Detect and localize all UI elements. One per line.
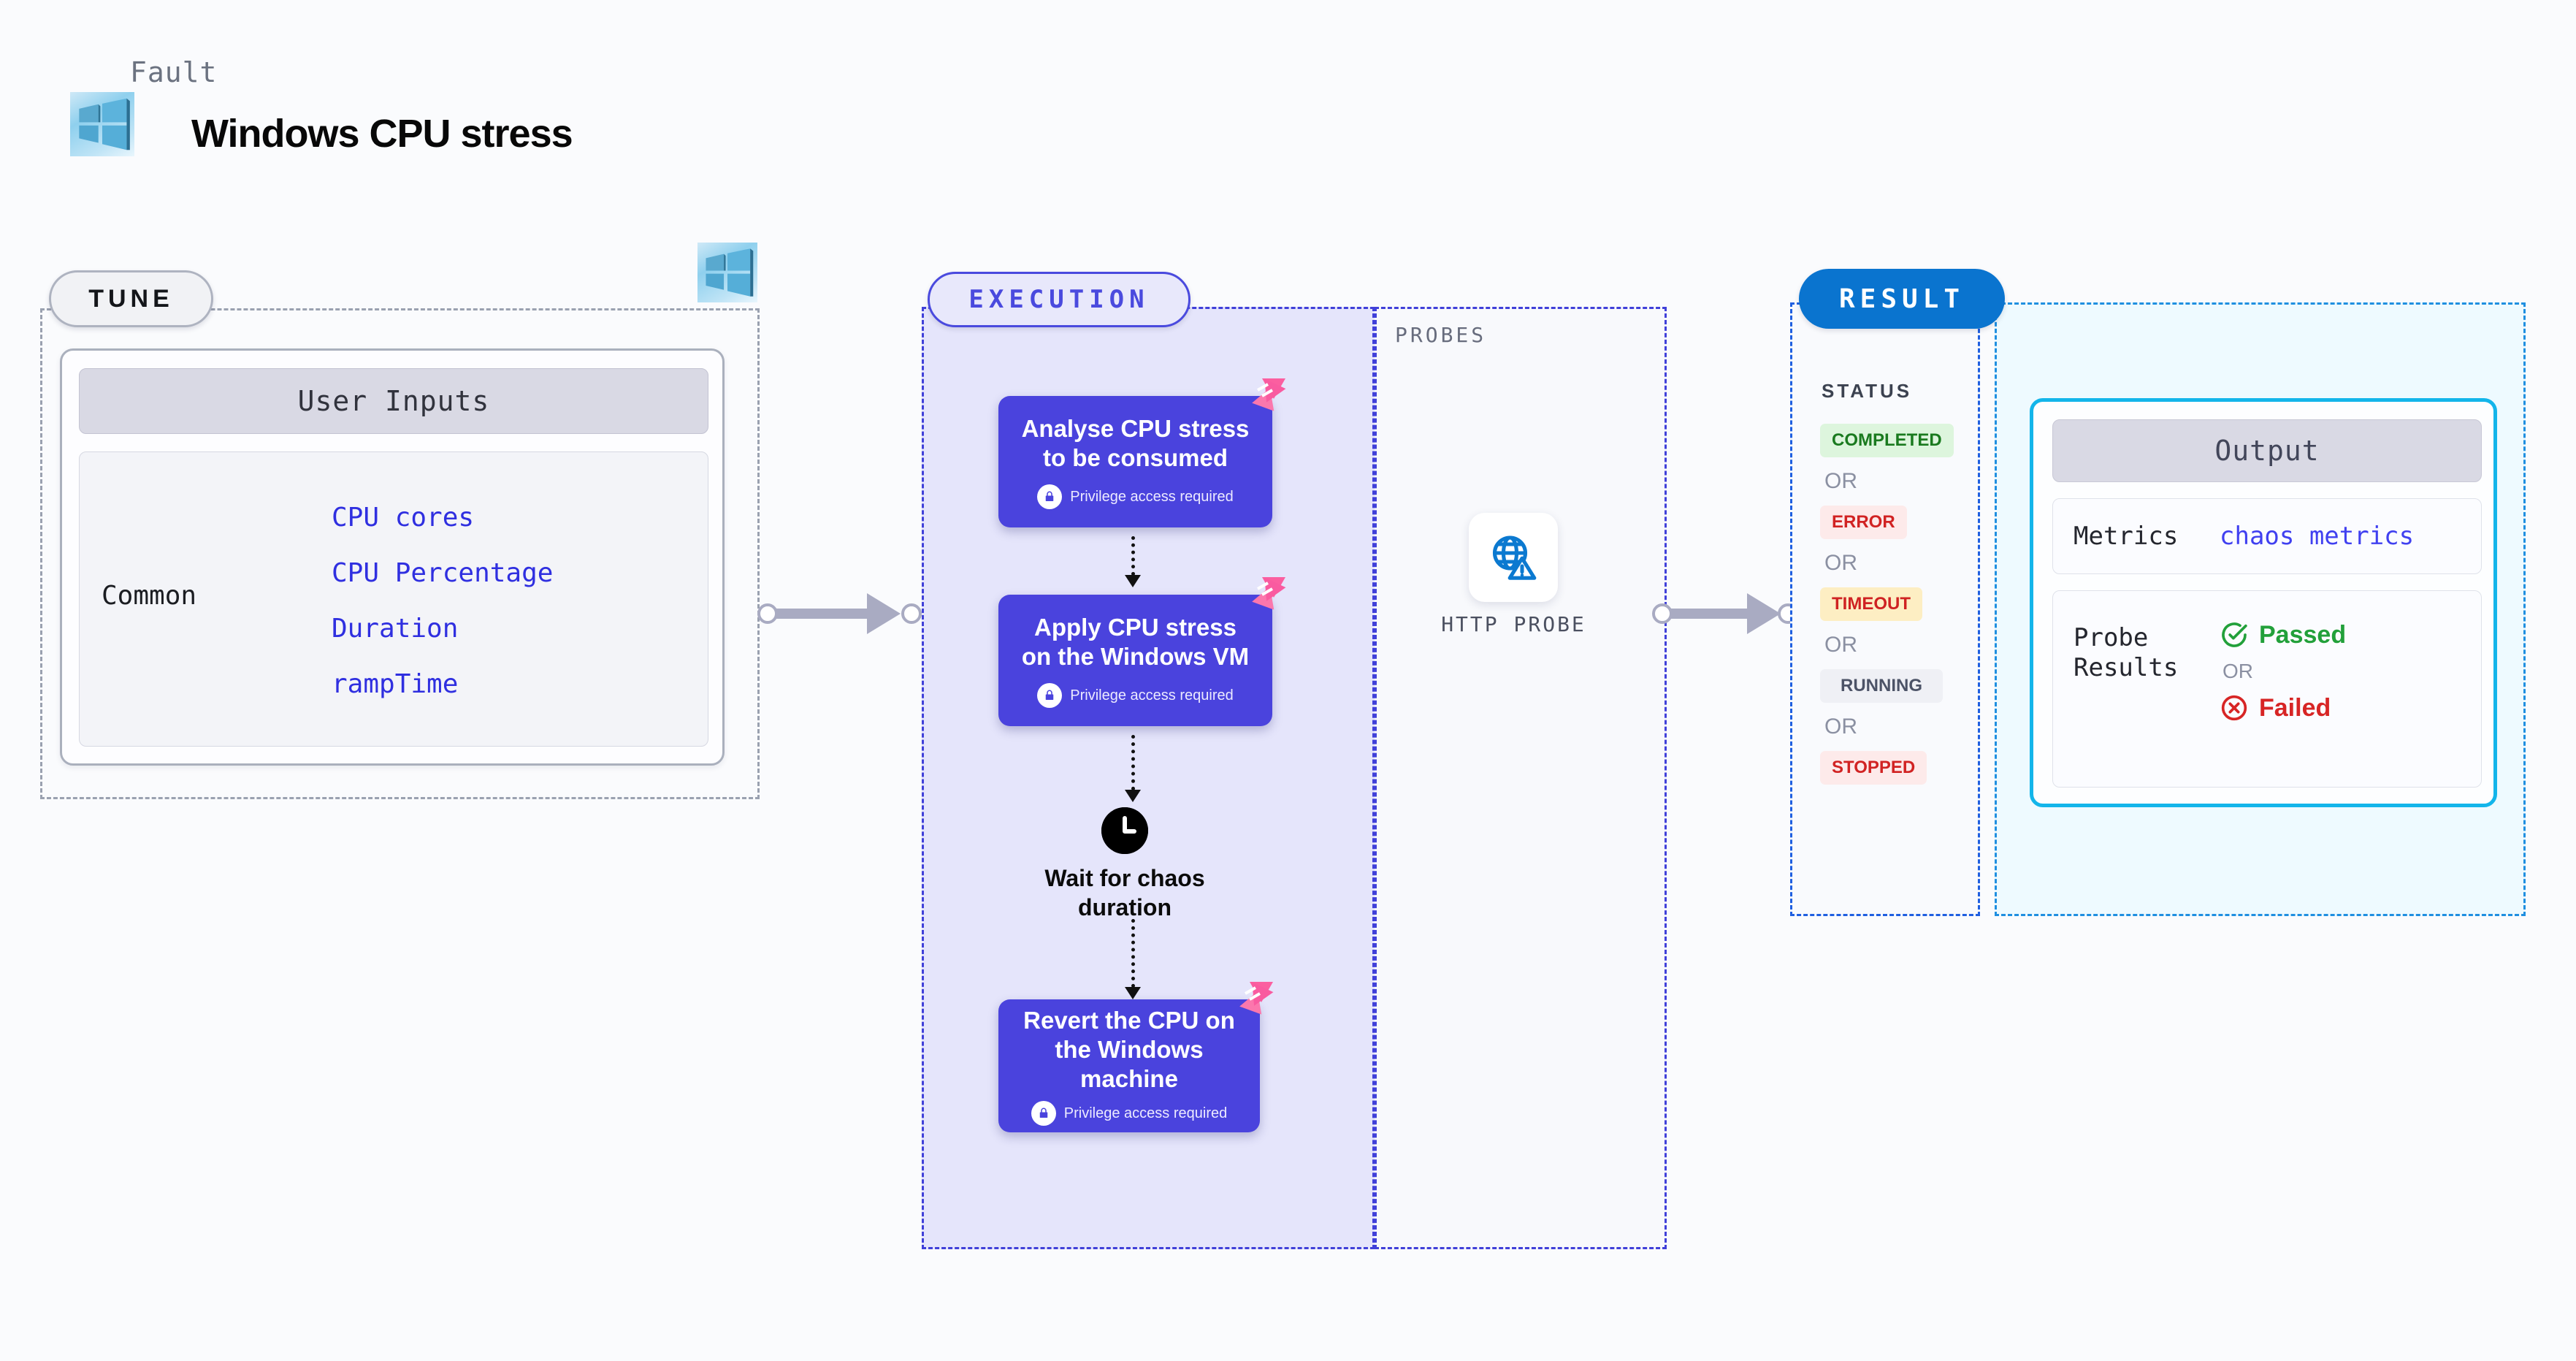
connector-probes-to-result <box>1652 599 1798 628</box>
windows-logo-icon <box>70 92 134 156</box>
windows-logo-icon <box>697 243 757 302</box>
wait-for-chaos-label: Wait for chaos duration <box>1023 864 1227 922</box>
tune-pill-label: TUNE <box>49 270 213 327</box>
lock-icon <box>1037 484 1062 509</box>
parameter-item[interactable]: CPU cores <box>332 490 711 546</box>
status-badge: STOPPED <box>1820 751 1927 785</box>
output-header: Output <box>2052 419 2482 482</box>
or-separator: OR <box>1824 469 1988 494</box>
check-circle-icon <box>2220 620 2249 649</box>
execution-step-card[interactable]: Apply CPU stress on the Windows VM Privi… <box>998 595 1272 726</box>
parameter-list: CPU cores CPU Percentage Duration rampTi… <box>332 490 711 712</box>
chaos-ribbon-icon <box>1240 377 1288 422</box>
probe-results-key: Probe Results <box>2074 623 2220 787</box>
fault-kicker-label: Fault <box>130 56 217 88</box>
probe-result-passed: Passed <box>2220 620 2346 649</box>
execution-step-title: Analyse CPU stress to be consumed <box>998 414 1272 473</box>
x-circle-icon <box>2220 693 2249 723</box>
common-group-label: Common <box>102 581 196 611</box>
user-inputs-header: User Inputs <box>79 368 708 434</box>
execution-pill-label: EXECUTION <box>928 272 1190 327</box>
http-probe-card[interactable] <box>1469 513 1558 602</box>
status-badge-list: COMPLETED OR ERROR OR TIMEOUT OR RUNNING… <box>1820 424 1988 785</box>
or-separator: OR <box>1824 551 1988 576</box>
metrics-key: Metrics <box>2074 522 2220 551</box>
passed-label: Passed <box>2259 621 2346 649</box>
clock-icon <box>1101 807 1148 854</box>
user-inputs-body: Common CPU cores CPU Percentage Duration… <box>79 451 708 747</box>
probe-results-row: Probe Results Passed OR <box>2052 590 2482 788</box>
execution-revert-title: Revert the CPU on the Windows machine <box>998 1006 1260 1094</box>
lock-icon <box>1031 1101 1056 1126</box>
parameter-item[interactable]: CPU Percentage <box>332 546 711 601</box>
failed-label: Failed <box>2259 694 2331 723</box>
status-badge: COMPLETED <box>1820 424 1954 457</box>
flow-arrow-down <box>1131 536 1134 587</box>
result-pill-label: RESULT <box>1799 269 2005 329</box>
execution-revert-card[interactable]: Revert the CPU on the Windows machine Pr… <box>998 999 1260 1132</box>
execution-step-card[interactable]: Analyse CPU stress to be consumed Privil… <box>998 396 1272 527</box>
probes-panel <box>1375 307 1667 1249</box>
execution-step-title: Apply CPU stress on the Windows VM <box>998 613 1272 672</box>
parameter-item[interactable]: Duration <box>332 601 711 657</box>
or-separator: OR <box>1824 633 1988 657</box>
flow-arrow-down <box>1131 735 1134 802</box>
connector-tune-to-execution <box>757 599 922 628</box>
http-probe-label: HTTP PROBE <box>1428 612 1600 636</box>
privilege-note: Privilege access required <box>1031 1101 1227 1126</box>
status-badge: TIMEOUT <box>1820 587 1922 621</box>
chaos-ribbon-icon <box>1228 980 1276 1026</box>
privilege-note-text: Privilege access required <box>1064 1105 1227 1122</box>
lock-icon <box>1037 683 1062 708</box>
probe-result-failed: Failed <box>2220 693 2346 723</box>
status-section-label: STATUS <box>1822 380 1912 403</box>
status-badge: RUNNING <box>1820 669 1943 703</box>
or-separator: OR <box>2223 660 2346 683</box>
user-inputs-card: User Inputs Common CPU cores CPU Percent… <box>60 348 725 766</box>
privilege-note-text: Privilege access required <box>1070 687 1233 704</box>
privilege-note: Privilege access required <box>1037 484 1233 509</box>
flow-arrow-down <box>1131 919 1134 999</box>
privilege-note-text: Privilege access required <box>1070 489 1233 506</box>
or-separator: OR <box>1824 714 1988 739</box>
metrics-value[interactable]: chaos metrics <box>2220 522 2414 551</box>
chaos-ribbon-icon <box>1240 576 1288 621</box>
metrics-row: Metrics chaos metrics <box>2052 498 2482 574</box>
probes-section-label: PROBES <box>1395 323 1486 347</box>
privilege-note: Privilege access required <box>1037 683 1233 708</box>
page-title: Windows CPU stress <box>191 111 573 156</box>
status-badge: ERROR <box>1820 506 1907 539</box>
parameter-item[interactable]: rampTime <box>332 657 711 712</box>
output-card: Output Metrics chaos metrics Probe Resul… <box>2030 398 2497 807</box>
globe-warning-icon <box>1487 531 1540 584</box>
